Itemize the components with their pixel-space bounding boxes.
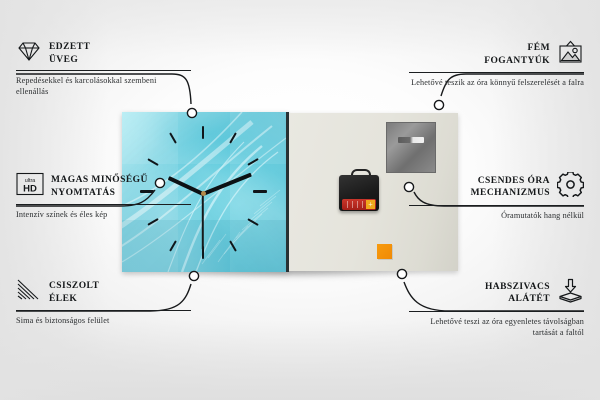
- mechanism-body: +: [339, 175, 379, 211]
- callout-divider: [409, 205, 584, 206]
- callout-description: Lehetővé teszi az óra egyenletes távolsá…: [409, 316, 584, 338]
- callout-divider: [409, 311, 584, 312]
- clock-tick: [253, 190, 267, 193]
- clock-hand-cap: [201, 191, 206, 196]
- callout-description: Repedésekkel és karcolásokkal szembeni e…: [16, 75, 191, 97]
- callout-divider: [16, 204, 191, 205]
- callout-description: Intenzív színek és éles kép: [16, 209, 191, 220]
- svg-text:HD: HD: [23, 184, 37, 195]
- callout-description: Lehetővé teszik az óra könnyű felszerelé…: [409, 77, 584, 88]
- foam-spacer-pad: [377, 244, 392, 259]
- callout-csiszolt-elek: CSISZOLT ÉLEK Sima és biztonságos felüle…: [16, 278, 191, 326]
- polished-edge-icon: [16, 278, 42, 307]
- callout-edzett-uveg: EDZETT ÜVEG Repedésekkel és karcolásokka…: [16, 40, 191, 97]
- callout-magas-minosegu-nyomtatas: ultra HD MAGAS MINŐSÉGŰ NYOMTATÁS Intenz…: [16, 172, 191, 220]
- infographic-canvas: +: [0, 0, 600, 400]
- callout-title: MAGAS MINŐSÉGŰ NYOMTATÁS: [51, 174, 148, 199]
- picture-hanger-icon: [557, 40, 584, 69]
- clock-mechanism: +: [339, 169, 379, 211]
- callout-habszivacs-alatet: HABSZIVACS ALÁTÉT Lehetővé teszi az óra …: [409, 278, 584, 338]
- diamond-icon: [16, 40, 42, 67]
- callout-description: Sima és biztonságos felület: [16, 315, 191, 326]
- ultra-hd-icon: ultra HD: [16, 172, 44, 201]
- callout-title: HABSZIVACS ALÁTÉT: [485, 281, 550, 306]
- callout-description: Óramutatók hang nélkül: [409, 210, 584, 221]
- callout-divider: [16, 70, 191, 71]
- callout-csendes-ora-mechanizmus: CSENDES ÓRA MECHANIZMUS Óramutatók hang …: [409, 172, 584, 221]
- hanger-slot: [398, 137, 424, 143]
- callout-divider: [16, 310, 191, 311]
- battery-plus-terminal: +: [366, 200, 375, 209]
- callout-fem-fogantyuk: FÉM FOGANTYÚK Lehetővé teszik az óra kön…: [409, 40, 584, 88]
- callout-title: EDZETT ÜVEG: [49, 41, 90, 66]
- gear-icon: [557, 172, 584, 202]
- connector-dot-fem-fogantyuk: [434, 100, 443, 109]
- callout-divider: [409, 72, 584, 73]
- metal-hanger-plate: [386, 122, 436, 173]
- clock-second-hand: [202, 194, 204, 250]
- callout-title: CSISZOLT ÉLEK: [49, 280, 99, 305]
- callout-title: FÉM FOGANTYÚK: [484, 42, 550, 67]
- battery: +: [342, 199, 376, 210]
- callout-title: CSENDES ÓRA MECHANIZMUS: [471, 175, 550, 200]
- foam-pad-icon: [557, 278, 584, 308]
